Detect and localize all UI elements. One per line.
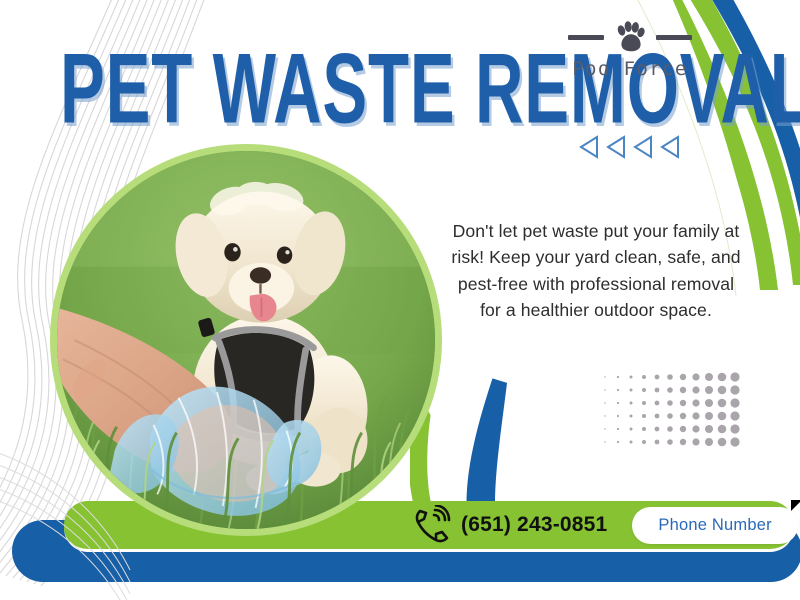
triangle-left-icon: [578, 135, 600, 159]
brand-logo: Poo Force: [540, 20, 720, 80]
selection-handle-icon[interactable]: [791, 500, 800, 511]
green-blue-swoosh-middle-icon: [410, 370, 620, 520]
halftone-dot-grid-icon: [600, 370, 750, 450]
dog-photo-illustration: [57, 151, 435, 529]
phone-number-cta-button[interactable]: Phone Number: [632, 507, 797, 544]
hero-photo: [50, 144, 442, 536]
contact-row: (651) 243-0851 Phone Number: [412, 503, 798, 547]
brand-mark-row: [540, 20, 720, 54]
triangle-left-icon: [605, 135, 627, 159]
paw-print-icon: [613, 21, 647, 53]
phone-number[interactable]: (651) 243-0851: [461, 513, 607, 537]
phone-number-cta-label: Phone Number: [658, 516, 771, 534]
headline-block: PET WASTE REMOVAL: [60, 34, 480, 139]
brand-name: Poo Force: [540, 58, 720, 80]
flyer-canvas: PET WASTE REMOVAL Poo Force: [0, 0, 800, 600]
body-text: Don't let pet waste put your family at r…: [446, 218, 746, 324]
page-title: PET WASTE REMOVAL: [60, 34, 396, 143]
arrow-row: [578, 135, 681, 159]
phone-ringing-icon: [412, 505, 452, 545]
triangle-left-icon: [659, 135, 681, 159]
dash-rule-right-icon: [656, 35, 692, 40]
dash-rule-left-icon: [568, 35, 604, 40]
triangle-left-icon: [632, 135, 654, 159]
